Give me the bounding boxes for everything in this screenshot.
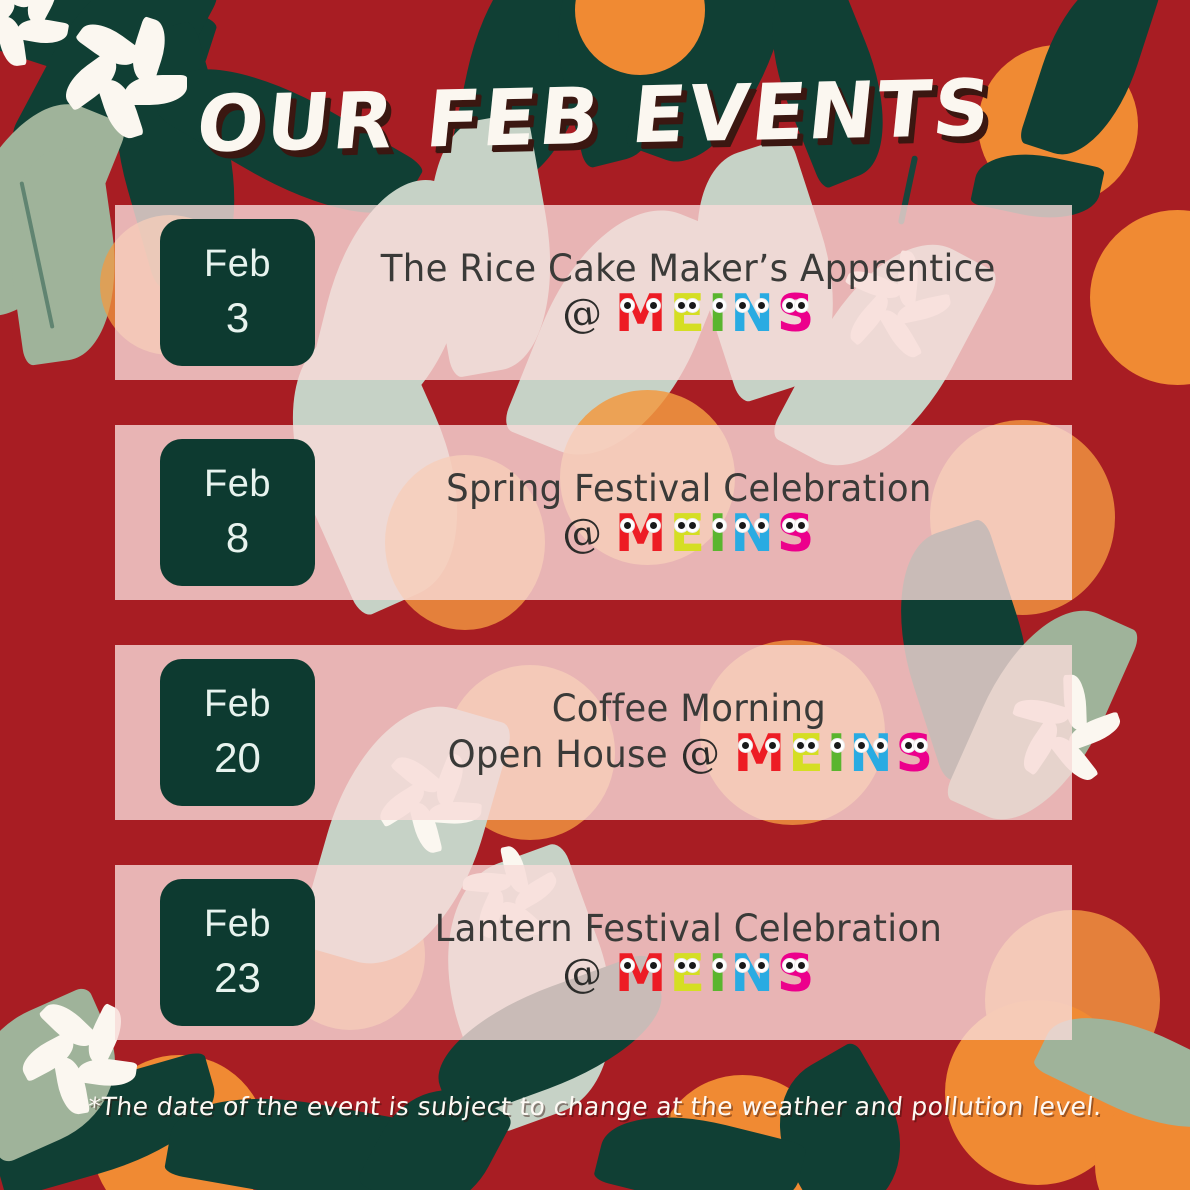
meins-logo: M E I N S — [614, 512, 816, 557]
meins-eye-icon — [854, 738, 869, 753]
meins-eye-icon — [735, 518, 750, 533]
meins-eye-icon — [685, 958, 700, 973]
meins-eye-icon — [685, 298, 700, 313]
meins-eye-icon — [620, 518, 635, 533]
meins-eye-icon — [620, 958, 635, 973]
meins-letter-m: M — [614, 512, 668, 557]
meins-letter-s: S — [776, 512, 815, 557]
event-date-badge: Feb 23 — [160, 879, 315, 1026]
meins-letter-n: N — [729, 292, 775, 337]
meins-letter-n: N — [729, 512, 775, 557]
event-details: Coffee Morning Open House @ M E I N S — [315, 688, 1072, 776]
meins-eye-icon — [754, 958, 769, 973]
meins-eye-icon — [712, 298, 727, 313]
event-date-badge: Feb 8 — [160, 439, 315, 586]
at-symbol: @ — [560, 512, 604, 556]
meins-letter-n: N — [729, 952, 775, 997]
event-date-month: Feb — [204, 905, 271, 945]
event-card[interactable]: Feb 3 The Rice Cake Maker’s Apprentice @… — [115, 205, 1072, 380]
event-date-day: 8 — [226, 516, 249, 560]
meins-eye-icon — [685, 518, 700, 533]
meins-eye-icon — [735, 298, 750, 313]
event-date-day: 3 — [226, 296, 249, 340]
meins-eye-icon — [735, 958, 750, 973]
event-date-day: 23 — [214, 956, 261, 1000]
event-details: The Rice Cake Maker’s Apprentice @ M E I… — [315, 248, 1072, 336]
meins-eye-icon — [794, 958, 809, 973]
meins-letter-n: N — [848, 732, 894, 777]
meins-letter-s: S — [895, 732, 934, 777]
event-venue-line: @ M E I N S — [562, 292, 816, 337]
meins-eye-icon — [794, 518, 809, 533]
meins-eye-icon — [804, 738, 819, 753]
meins-letter-e: E — [668, 292, 706, 337]
footer-disclaimer: *The date of the event is subject to cha… — [86, 1092, 1103, 1121]
meins-logo: M E I N S — [614, 292, 816, 337]
meins-letter-e: E — [668, 952, 706, 997]
meins-eye-icon — [754, 298, 769, 313]
event-date-badge: Feb 3 — [160, 219, 315, 366]
meins-logo: M E I N S — [732, 732, 934, 777]
meins-eye-icon — [646, 958, 661, 973]
meins-eye-icon — [830, 738, 845, 753]
poster-canvas: OUR FEB EVENTS Feb 3 The Rice Cake Maker… — [0, 0, 1190, 1190]
meins-letter-e: E — [787, 732, 825, 777]
meins-letter-s: S — [776, 292, 815, 337]
event-card[interactable]: Feb 20 Coffee Morning Open House @ M E I… — [115, 645, 1072, 820]
event-date-badge: Feb 20 — [160, 659, 315, 806]
meins-letter-i: I — [826, 732, 847, 777]
footer-note-container: *The date of the event is subject to cha… — [0, 1092, 1190, 1121]
meins-eye-icon — [646, 298, 661, 313]
meins-letter-m: M — [614, 952, 668, 997]
meins-eye-icon — [754, 518, 769, 533]
event-date-month: Feb — [204, 685, 271, 725]
event-venue-line: Open House @ M E I N S — [443, 732, 934, 777]
meins-eye-icon — [712, 518, 727, 533]
meins-letter-s: S — [776, 952, 815, 997]
event-card[interactable]: Feb 23 Lantern Festival Celebration @ M … — [115, 865, 1072, 1040]
event-details: Lantern Festival Celebration @ M E I N S — [315, 908, 1072, 996]
event-date-month: Feb — [204, 245, 271, 285]
meins-letter-i: I — [707, 952, 728, 997]
event-date-month: Feb — [204, 465, 271, 505]
meins-letter-m: M — [614, 292, 668, 337]
page-title: OUR FEB EVENTS — [193, 64, 998, 171]
meins-eye-icon — [646, 518, 661, 533]
at-symbol: @ — [560, 292, 604, 336]
meins-letter-e: E — [668, 512, 706, 557]
meins-eye-icon — [913, 738, 928, 753]
event-date-day: 20 — [214, 736, 261, 780]
event-list: Feb 3 The Rice Cake Maker’s Apprentice @… — [115, 205, 1072, 1040]
event-venue-line: @ M E I N S — [562, 952, 816, 997]
meins-eye-icon — [738, 738, 753, 753]
meins-eye-icon — [794, 298, 809, 313]
meins-letter-m: M — [732, 732, 786, 777]
orange-fruit — [1090, 210, 1190, 385]
at-symbol: @ — [678, 732, 722, 776]
meins-logo: M E I N S — [614, 952, 816, 997]
meins-letter-i: I — [707, 292, 728, 337]
poster-title-container: OUR FEB EVENTS — [0, 72, 1190, 162]
event-card[interactable]: Feb 8 Spring Festival Celebration @ M E … — [115, 425, 1072, 600]
meins-eye-icon — [765, 738, 780, 753]
event-details: Spring Festival Celebration @ M E I N S — [315, 468, 1072, 556]
event-subtitle: Open House — [447, 734, 667, 775]
at-symbol: @ — [560, 952, 604, 996]
meins-eye-icon — [712, 958, 727, 973]
meins-eye-icon — [620, 298, 635, 313]
meins-letter-i: I — [707, 512, 728, 557]
event-venue-line: @ M E I N S — [562, 512, 816, 557]
meins-eye-icon — [873, 738, 888, 753]
